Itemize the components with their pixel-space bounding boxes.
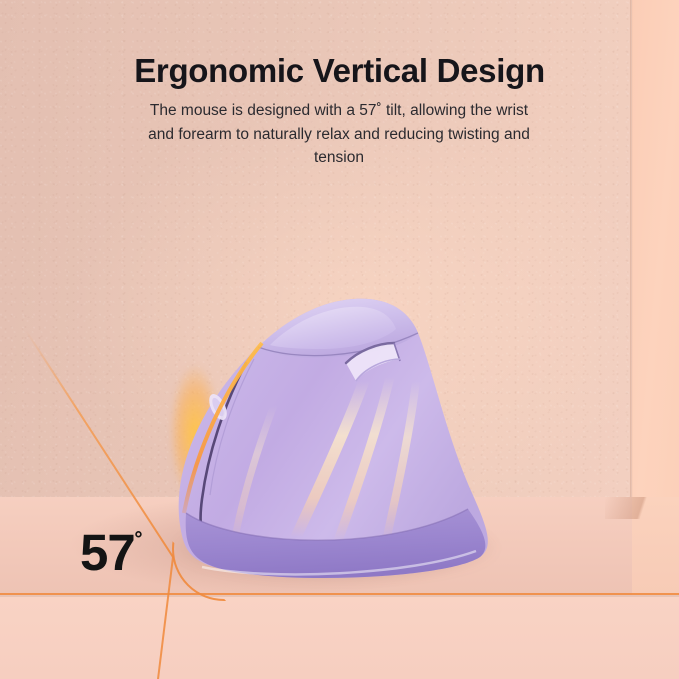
ledge-corner-line: [605, 497, 679, 519]
product-illustration: [150, 285, 510, 595]
angle-label: 57˚: [80, 527, 142, 578]
mouse-body: [179, 299, 488, 578]
degree-symbol: ˚: [135, 528, 143, 558]
foreground-floor: [0, 597, 679, 679]
mouse-vector: [150, 285, 510, 595]
page-title: Ergonomic Vertical Design: [0, 52, 679, 90]
product-feature-image: Ergonomic Vertical Design The mouse is d…: [0, 0, 679, 679]
angle-value: 57: [80, 524, 135, 581]
angle-baseline: [0, 593, 679, 595]
description-text: The mouse is designed with a 57˚ tilt, a…: [139, 99, 539, 170]
